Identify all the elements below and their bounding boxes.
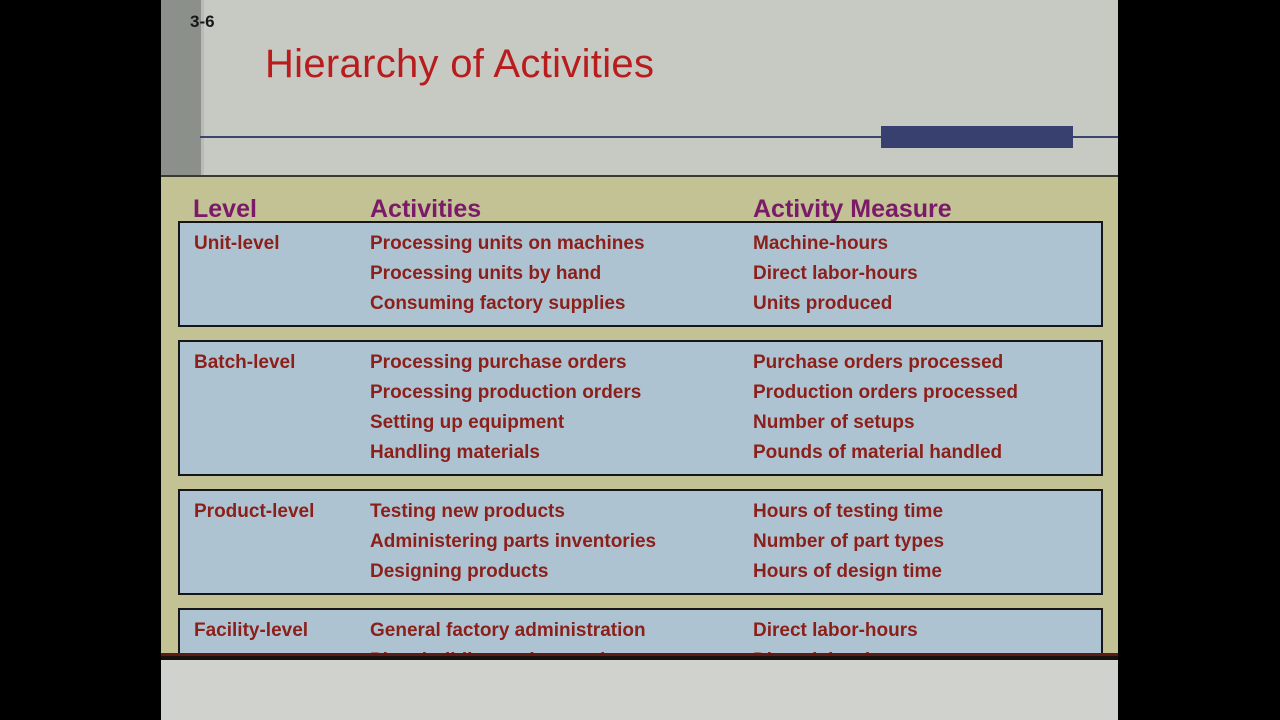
column-header-activity-measure: Activity Measure — [753, 195, 952, 224]
cell-activity: General factory administration — [370, 620, 646, 642]
slide-footer — [161, 660, 1118, 720]
table-row: Batch-levelProcessing purchase ordersPur… — [180, 350, 1101, 380]
cell-activity: Designing products — [370, 561, 548, 583]
cell-activity: Processing units on machines — [370, 233, 645, 255]
cell-activity: Processing units by hand — [370, 263, 601, 285]
cell-activity-measure: Units produced — [753, 293, 892, 315]
table-row: Processing production ordersProduction o… — [180, 380, 1101, 410]
cell-activity: Administering parts inventories — [370, 531, 656, 553]
slide-canvas: 3-6 Hierarchy of Activities Level Activi… — [161, 0, 1118, 720]
cell-activity-measure: Hours of design time — [753, 561, 942, 583]
table-row: Handling materialsPounds of material han… — [180, 440, 1101, 470]
cell-activity: Processing purchase orders — [370, 352, 627, 374]
table-row: Unit-levelProcessing units on machinesMa… — [180, 231, 1101, 261]
table-row: Product-levelTesting new productsHours o… — [180, 499, 1101, 529]
column-header-activities: Activities — [370, 195, 481, 224]
block-rows: Batch-levelProcessing purchase ordersPur… — [180, 342, 1101, 470]
cell-activity-measure: Hours of testing time — [753, 501, 943, 523]
activity-hierarchy-panel: Level Activities Activity Measure Unit-l… — [161, 177, 1118, 655]
table-row: Designing productsHours of design time — [180, 559, 1101, 589]
cell-activity: Handling materials — [370, 442, 540, 464]
cell-activity-measure: Machine-hours — [753, 233, 888, 255]
table-row: Setting up equipmentNumber of setups — [180, 410, 1101, 440]
header-accent-block — [881, 126, 1073, 148]
screen-letterbox: 3-6 Hierarchy of Activities Level Activi… — [0, 0, 1280, 720]
column-header-level: Level — [193, 195, 257, 224]
cell-activity-measure: Number of part types — [753, 531, 944, 553]
cell-level: Product-level — [194, 501, 314, 523]
cell-activity: Processing production orders — [370, 382, 641, 404]
cell-activity-measure: Production orders processed — [753, 382, 1018, 404]
activity-level-block: Batch-levelProcessing purchase ordersPur… — [178, 340, 1103, 476]
cell-activity-measure: Direct labor-hours — [753, 263, 918, 285]
cell-activity: Setting up equipment — [370, 412, 564, 434]
cell-activity-measure: Pounds of material handled — [753, 442, 1002, 464]
slide-header: 3-6 Hierarchy of Activities — [161, 0, 1118, 177]
table-row: Administering parts inventoriesNumber of… — [180, 529, 1101, 559]
cell-level: Facility-level — [194, 620, 308, 642]
cell-level: Unit-level — [194, 233, 280, 255]
activity-level-block: Unit-levelProcessing units on machinesMa… — [178, 221, 1103, 327]
table-row: Facility-levelGeneral factory administra… — [180, 618, 1101, 648]
table-row: Consuming factory suppliesUnits produced — [180, 291, 1101, 321]
block-rows: Unit-levelProcessing units on machinesMa… — [180, 223, 1101, 321]
cell-activity: Testing new products — [370, 501, 565, 523]
activity-level-block: Product-levelTesting new productsHours o… — [178, 489, 1103, 595]
table-row: Processing units by handDirect labor-hou… — [180, 261, 1101, 291]
cell-activity-measure: Purchase orders processed — [753, 352, 1003, 374]
cell-activity: Consuming factory supplies — [370, 293, 625, 315]
block-rows: Product-levelTesting new productsHours o… — [180, 491, 1101, 589]
cell-level: Batch-level — [194, 352, 295, 374]
cell-activity-measure: Number of setups — [753, 412, 915, 434]
page-title: Hierarchy of Activities — [265, 42, 654, 87]
slide-number: 3-6 — [190, 12, 215, 32]
cell-activity-measure: Direct labor-hours — [753, 620, 918, 642]
